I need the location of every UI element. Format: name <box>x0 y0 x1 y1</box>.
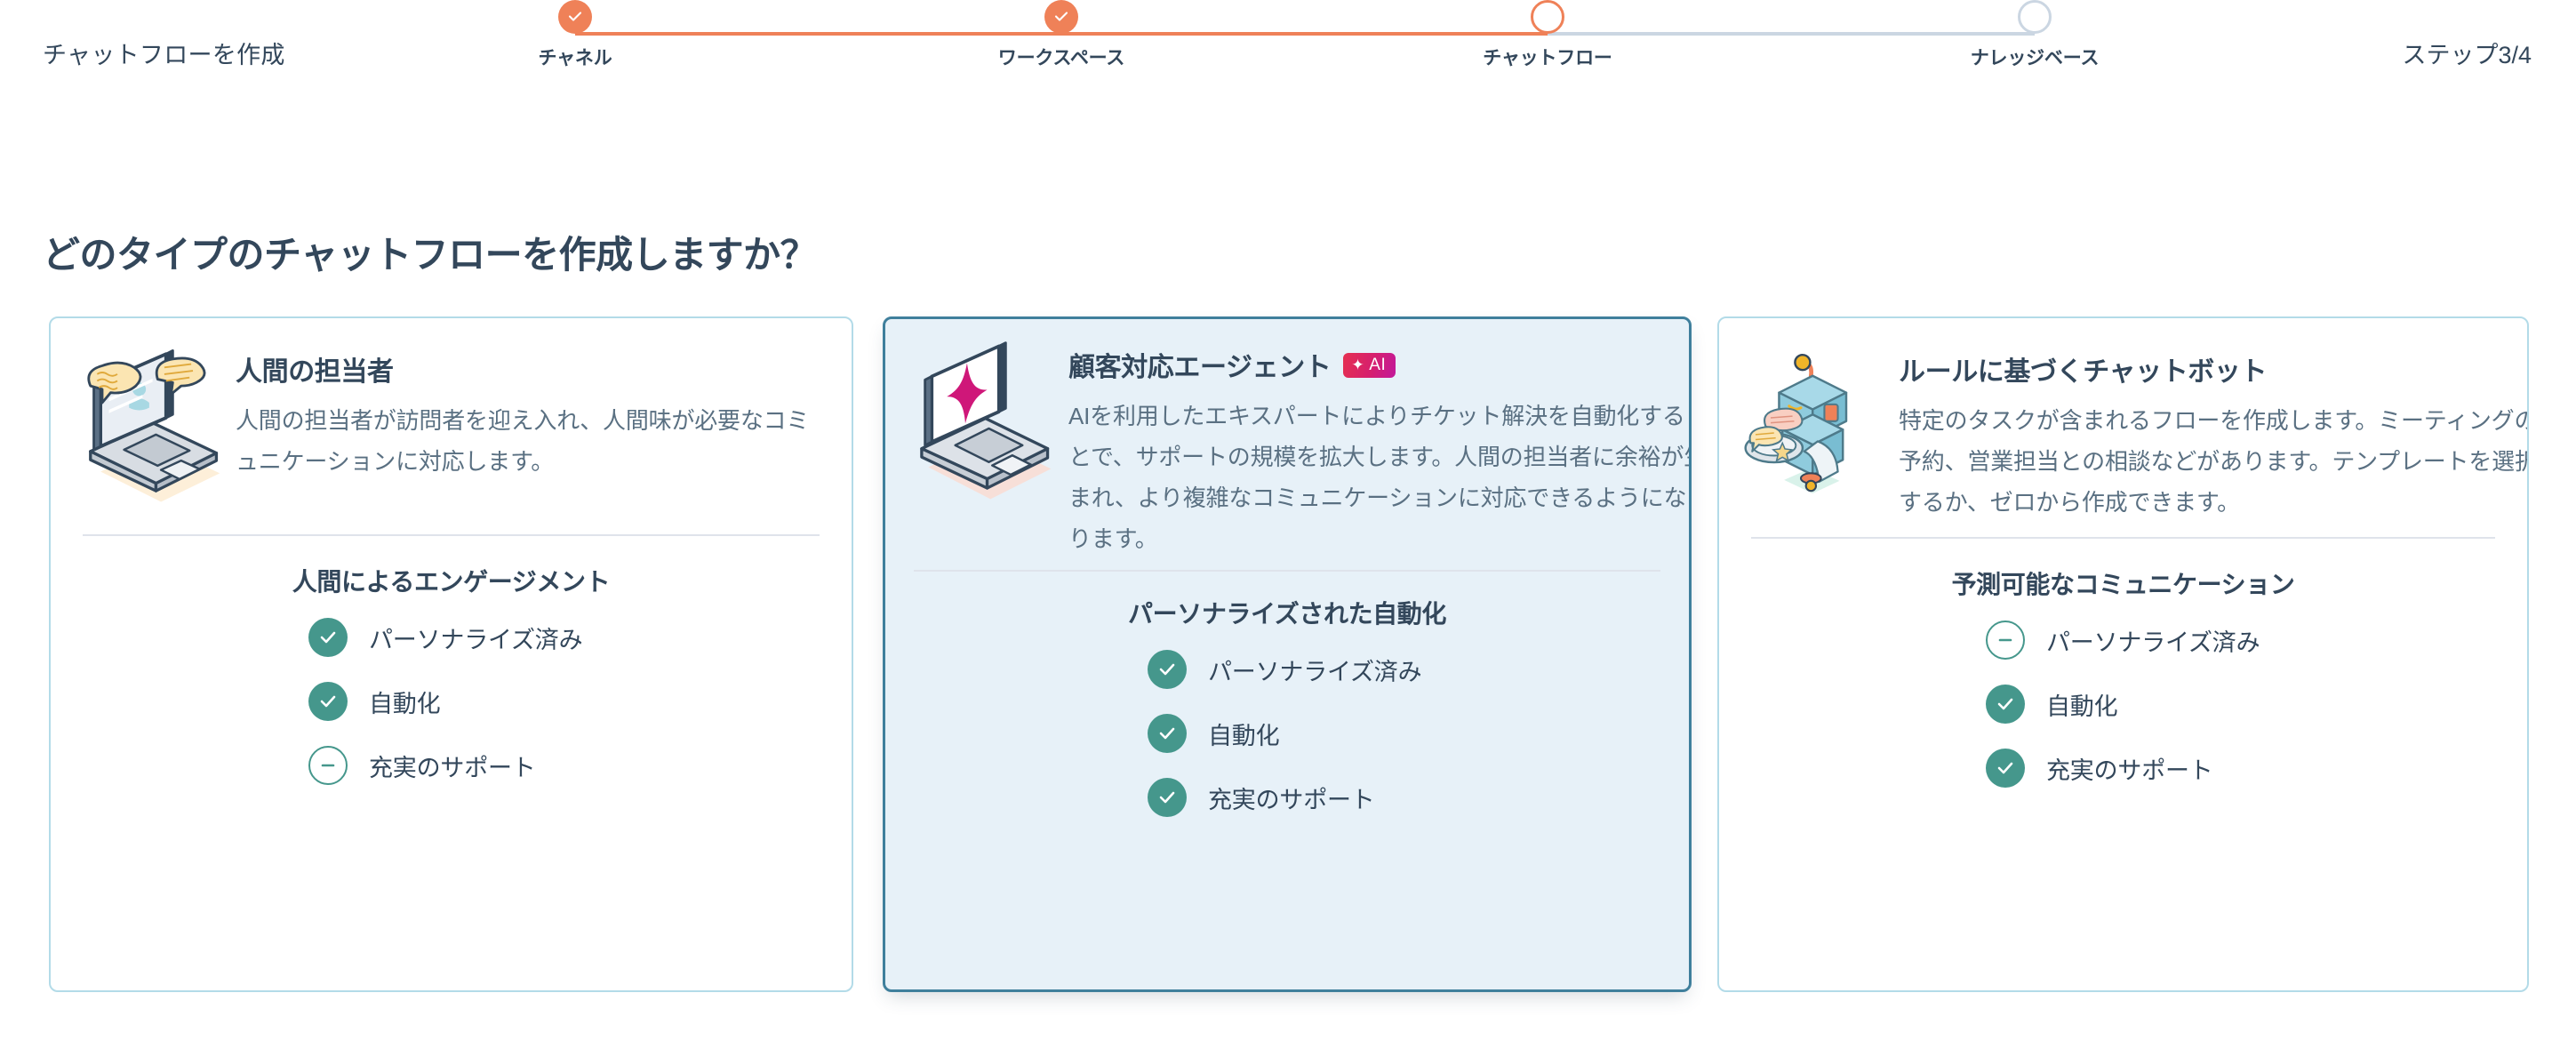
card-title: ルールに基づくチャットボット <box>1899 349 2267 388</box>
check-icon <box>1052 8 1070 26</box>
feature-label: 自動化 <box>1208 717 1279 751</box>
step-circle-knowledgebase[interactable] <box>2018 0 2052 34</box>
feature-row: 充実のサポート <box>51 746 852 785</box>
card-feature-block: パーソナライズされた自動化 パーソナライズ済み <box>885 572 1689 817</box>
card-text-column: ルールに基づくチャットボット 特定のタスクが含まれるフローを作成します。ミーティ… <box>1892 343 2529 523</box>
card-feature-list: パーソナライズ済み 自動化 充実 <box>1719 621 2527 788</box>
laptop-chat-bubbles-icon <box>72 343 223 508</box>
robot-tray-icon <box>1740 343 1892 508</box>
check-circle-icon <box>308 682 348 721</box>
laptop-ai-sparkle-icon <box>905 339 1056 503</box>
card-feature-block: 予測可能なコミュニケーション パーソナライズ済み <box>1719 539 2527 788</box>
step-circle-channel[interactable] <box>558 0 592 34</box>
step-counter: ステップ3/4 <box>2402 36 2532 70</box>
stepper-step-workspace[interactable]: ワークスペース <box>981 0 1141 70</box>
card-feature-heading: 予測可能なコミュニケーション <box>1719 565 2527 601</box>
stepper-step-knowledgebase[interactable]: ナレッジベース <box>1955 0 2115 70</box>
feature-label: 自動化 <box>2046 687 2117 722</box>
feature-row: パーソナライズ済み <box>885 650 1689 689</box>
page-flow-title: チャットフローを作成 <box>43 36 285 70</box>
card-customer-agent[interactable]: 顧客対応エージェント ✦ AI AIを利用したエキスパートによりチケット解決を自… <box>883 316 1692 992</box>
feature-row: 自動化 <box>1719 685 2527 724</box>
card-feature-heading: 人間によるエンゲージメント <box>51 563 852 598</box>
card-title-row: 顧客対応エージェント ✦ AI <box>1068 348 1692 381</box>
feature-row: 自動化 <box>885 714 1689 753</box>
top-stepper-bar: チャットフローを作成 チャネル ワークスペース チャットフロー <box>0 0 2576 98</box>
feature-label: パーソナライズ済み <box>2046 623 2260 658</box>
feature-label: 充実のサポート <box>1208 781 1375 815</box>
ai-badge-label: AI <box>1369 356 1386 373</box>
card-header: 人間の担当者 人間の担当者が訪問者を迎え入れ、人間味が必要なコミュニケーションに… <box>51 318 852 508</box>
minus-circle-icon <box>308 746 348 785</box>
ai-badge: ✦ AI <box>1343 353 1396 378</box>
card-title: 顧客対応エージェント <box>1068 345 1331 384</box>
card-description: 人間の担当者が訪問者を迎え入れ、人間味が必要なコミュニケーションに対応します。 <box>236 400 822 482</box>
minus-circle-icon <box>1986 621 2025 660</box>
card-header: ルールに基づくチャットボット 特定のタスクが含まれるフローを作成します。ミーティ… <box>1719 318 2527 523</box>
check-circle-icon <box>1148 778 1187 817</box>
step-circle-workspace[interactable] <box>1044 0 1078 34</box>
feature-label: 充実のサポート <box>369 749 536 783</box>
feature-row: パーソナライズ済み <box>51 618 852 657</box>
feature-label: 充実のサポート <box>2046 751 2213 786</box>
check-circle-icon <box>1986 685 2025 724</box>
feature-row: 充実のサポート <box>885 778 1689 817</box>
card-title-row: 人間の担当者 <box>236 352 822 386</box>
feature-label: パーソナライズ済み <box>369 621 582 655</box>
card-title: 人間の担当者 <box>236 349 394 388</box>
card-feature-list: パーソナライズ済み 自動化 充実 <box>51 618 852 785</box>
stepper-step-chatflow[interactable]: チャットフロー <box>1468 0 1628 70</box>
card-feature-block: 人間によるエンゲージメント パーソナライズ済み <box>51 536 852 785</box>
card-header: 顧客対応エージェント ✦ AI AIを利用したエキスパートによりチケット解決を自… <box>885 319 1689 559</box>
sparkle-icon: ✦ <box>1351 357 1364 372</box>
step-label-workspace: ワークスペース <box>998 44 1124 70</box>
step-circle-chatflow[interactable] <box>1531 0 1564 34</box>
check-icon <box>566 8 584 26</box>
check-circle-icon <box>1148 650 1187 689</box>
card-text-column: 顧客対応エージェント ✦ AI AIを利用したエキスパートによりチケット解決を自… <box>1056 339 1692 559</box>
check-circle-icon <box>1986 749 2025 788</box>
card-feature-list: パーソナライズ済み 自動化 充実 <box>885 650 1689 817</box>
card-feature-heading: パーソナライズされた自動化 <box>885 595 1689 630</box>
stepper-step-channel[interactable]: チャネル <box>495 0 655 70</box>
card-text-column: 人間の担当者 人間の担当者が訪問者を迎え入れ、人間味が必要なコミュニケーションに… <box>223 343 822 482</box>
page-title: どのタイプのチャットフローを作成しますか？ <box>43 225 817 279</box>
feature-row: パーソナライズ済み <box>1719 621 2527 660</box>
chatflow-type-card-list: 人間の担当者 人間の担当者が訪問者を迎え入れ、人間味が必要なコミュニケーションに… <box>0 316 2576 1001</box>
feature-row: 自動化 <box>51 682 852 721</box>
card-rule-based-chatbot[interactable]: ルールに基づくチャットボット 特定のタスクが含まれるフローを作成します。ミーティ… <box>1717 316 2529 992</box>
step-label-chatflow: チャットフロー <box>1483 44 1612 70</box>
card-description: 特定のタスクが含まれるフローを作成します。ミーティングの予約、営業担当との相談な… <box>1899 400 2529 523</box>
feature-label: 自動化 <box>369 685 440 719</box>
check-circle-icon <box>1148 714 1187 753</box>
feature-row: 充実のサポート <box>1719 749 2527 788</box>
progress-stepper: チャネル ワークスペース チャットフロー ナレッジベース <box>549 0 2060 98</box>
step-label-knowledgebase: ナレッジベース <box>1971 44 2100 70</box>
check-circle-icon <box>308 618 348 657</box>
feature-label: パーソナライズ済み <box>1208 653 1421 687</box>
step-label-channel: チャネル <box>539 44 612 70</box>
card-description: AIを利用したエキスパートによりチケット解決を自動化することで、サポートの規模を… <box>1068 396 1692 559</box>
card-title-row: ルールに基づくチャットボット <box>1899 352 2529 386</box>
card-human-agent[interactable]: 人間の担当者 人間の担当者が訪問者を迎え入れ、人間味が必要なコミュニケーションに… <box>49 316 853 992</box>
